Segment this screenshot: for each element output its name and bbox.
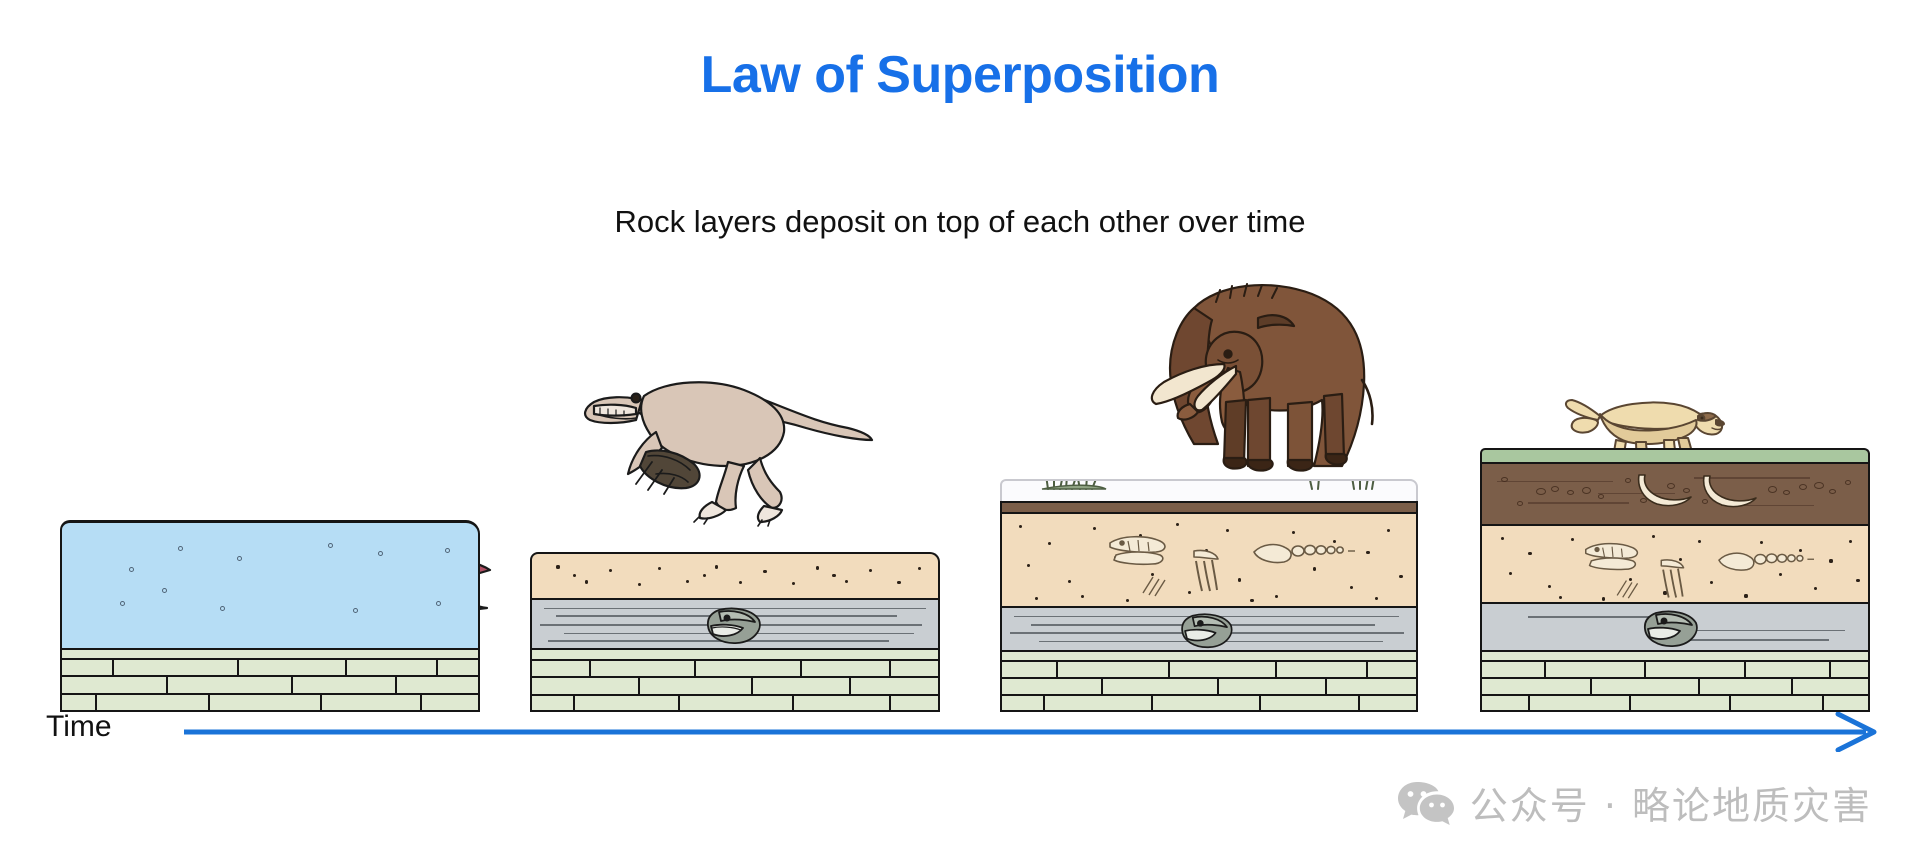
bone-fragment-fossil xyxy=(1139,571,1179,599)
layer-limestone xyxy=(530,648,940,712)
time-axis: Time xyxy=(46,708,1886,752)
dinosaur-skull-fossil xyxy=(1106,531,1172,573)
layer-sandstone xyxy=(1480,524,1870,602)
tail-vertebrae-fossil xyxy=(1250,538,1358,572)
layer-shale xyxy=(530,598,940,648)
page-title: Law of Superposition xyxy=(0,48,1920,103)
raptor-dinosaur-icon xyxy=(548,370,878,530)
fish-skull-fossil xyxy=(1640,607,1702,649)
water-bubbles xyxy=(62,523,478,648)
layer-shale xyxy=(1000,606,1418,650)
panel-1 xyxy=(60,462,480,712)
arrow-right-icon xyxy=(184,712,1884,752)
layer-soil xyxy=(1000,501,1418,512)
limestone-brick-pattern xyxy=(532,650,938,710)
panel-2-layer-stack xyxy=(530,552,940,712)
layer-sandstone xyxy=(1000,512,1418,606)
panel-4-layer-stack xyxy=(1480,448,1870,712)
panel-3-layer-stack xyxy=(1000,479,1418,712)
layer-limestone xyxy=(1000,650,1418,712)
layer-sandstone xyxy=(530,552,940,598)
tail-vertebrae-fossil xyxy=(1714,547,1818,579)
layer-snow xyxy=(1000,479,1418,501)
claw-fossil xyxy=(1184,547,1240,593)
panel-3 xyxy=(1000,462,1418,712)
dinosaur-skull-fossil xyxy=(1582,538,1644,578)
illustration-canvas: Law of Superposition Rock layers deposit… xyxy=(0,0,1920,862)
fish-skull-fossil xyxy=(703,604,765,646)
bone-fragment-fossil xyxy=(1613,575,1651,601)
mammoth-tusk-fossil xyxy=(1698,472,1760,510)
claw-fossil xyxy=(1652,556,1704,600)
panel-1-layer-stack xyxy=(60,520,480,712)
limestone-brick-pattern xyxy=(62,650,478,710)
page-subtitle: Rock layers deposit on top of each other… xyxy=(0,205,1920,239)
woolly-mammoth-icon xyxy=(1098,272,1388,487)
grass-tuft-icon xyxy=(1002,479,1418,491)
layer-water xyxy=(60,520,480,648)
panel-2 xyxy=(530,462,940,712)
layer-limestone xyxy=(1480,650,1870,712)
limestone-brick-pattern xyxy=(1002,652,1416,710)
panel-4 xyxy=(1480,462,1870,712)
sandstone-speckles xyxy=(532,554,938,598)
mammoth-tusk-fossil xyxy=(1633,471,1695,509)
limestone-brick-pattern xyxy=(1482,652,1868,710)
layer-soil xyxy=(1480,462,1870,524)
layer-shale xyxy=(1480,602,1870,650)
time-axis-label: Time xyxy=(46,710,112,744)
wechat-icon xyxy=(1398,780,1454,826)
layer-grass xyxy=(1480,448,1870,462)
layer-limestone xyxy=(60,648,480,712)
fish-skull-fossil xyxy=(1176,610,1238,650)
watermark: 公众号 · 略论地质灾害 xyxy=(1398,775,1872,830)
watermark-text: 公众号 · 略论地质灾害 xyxy=(1470,775,1872,830)
